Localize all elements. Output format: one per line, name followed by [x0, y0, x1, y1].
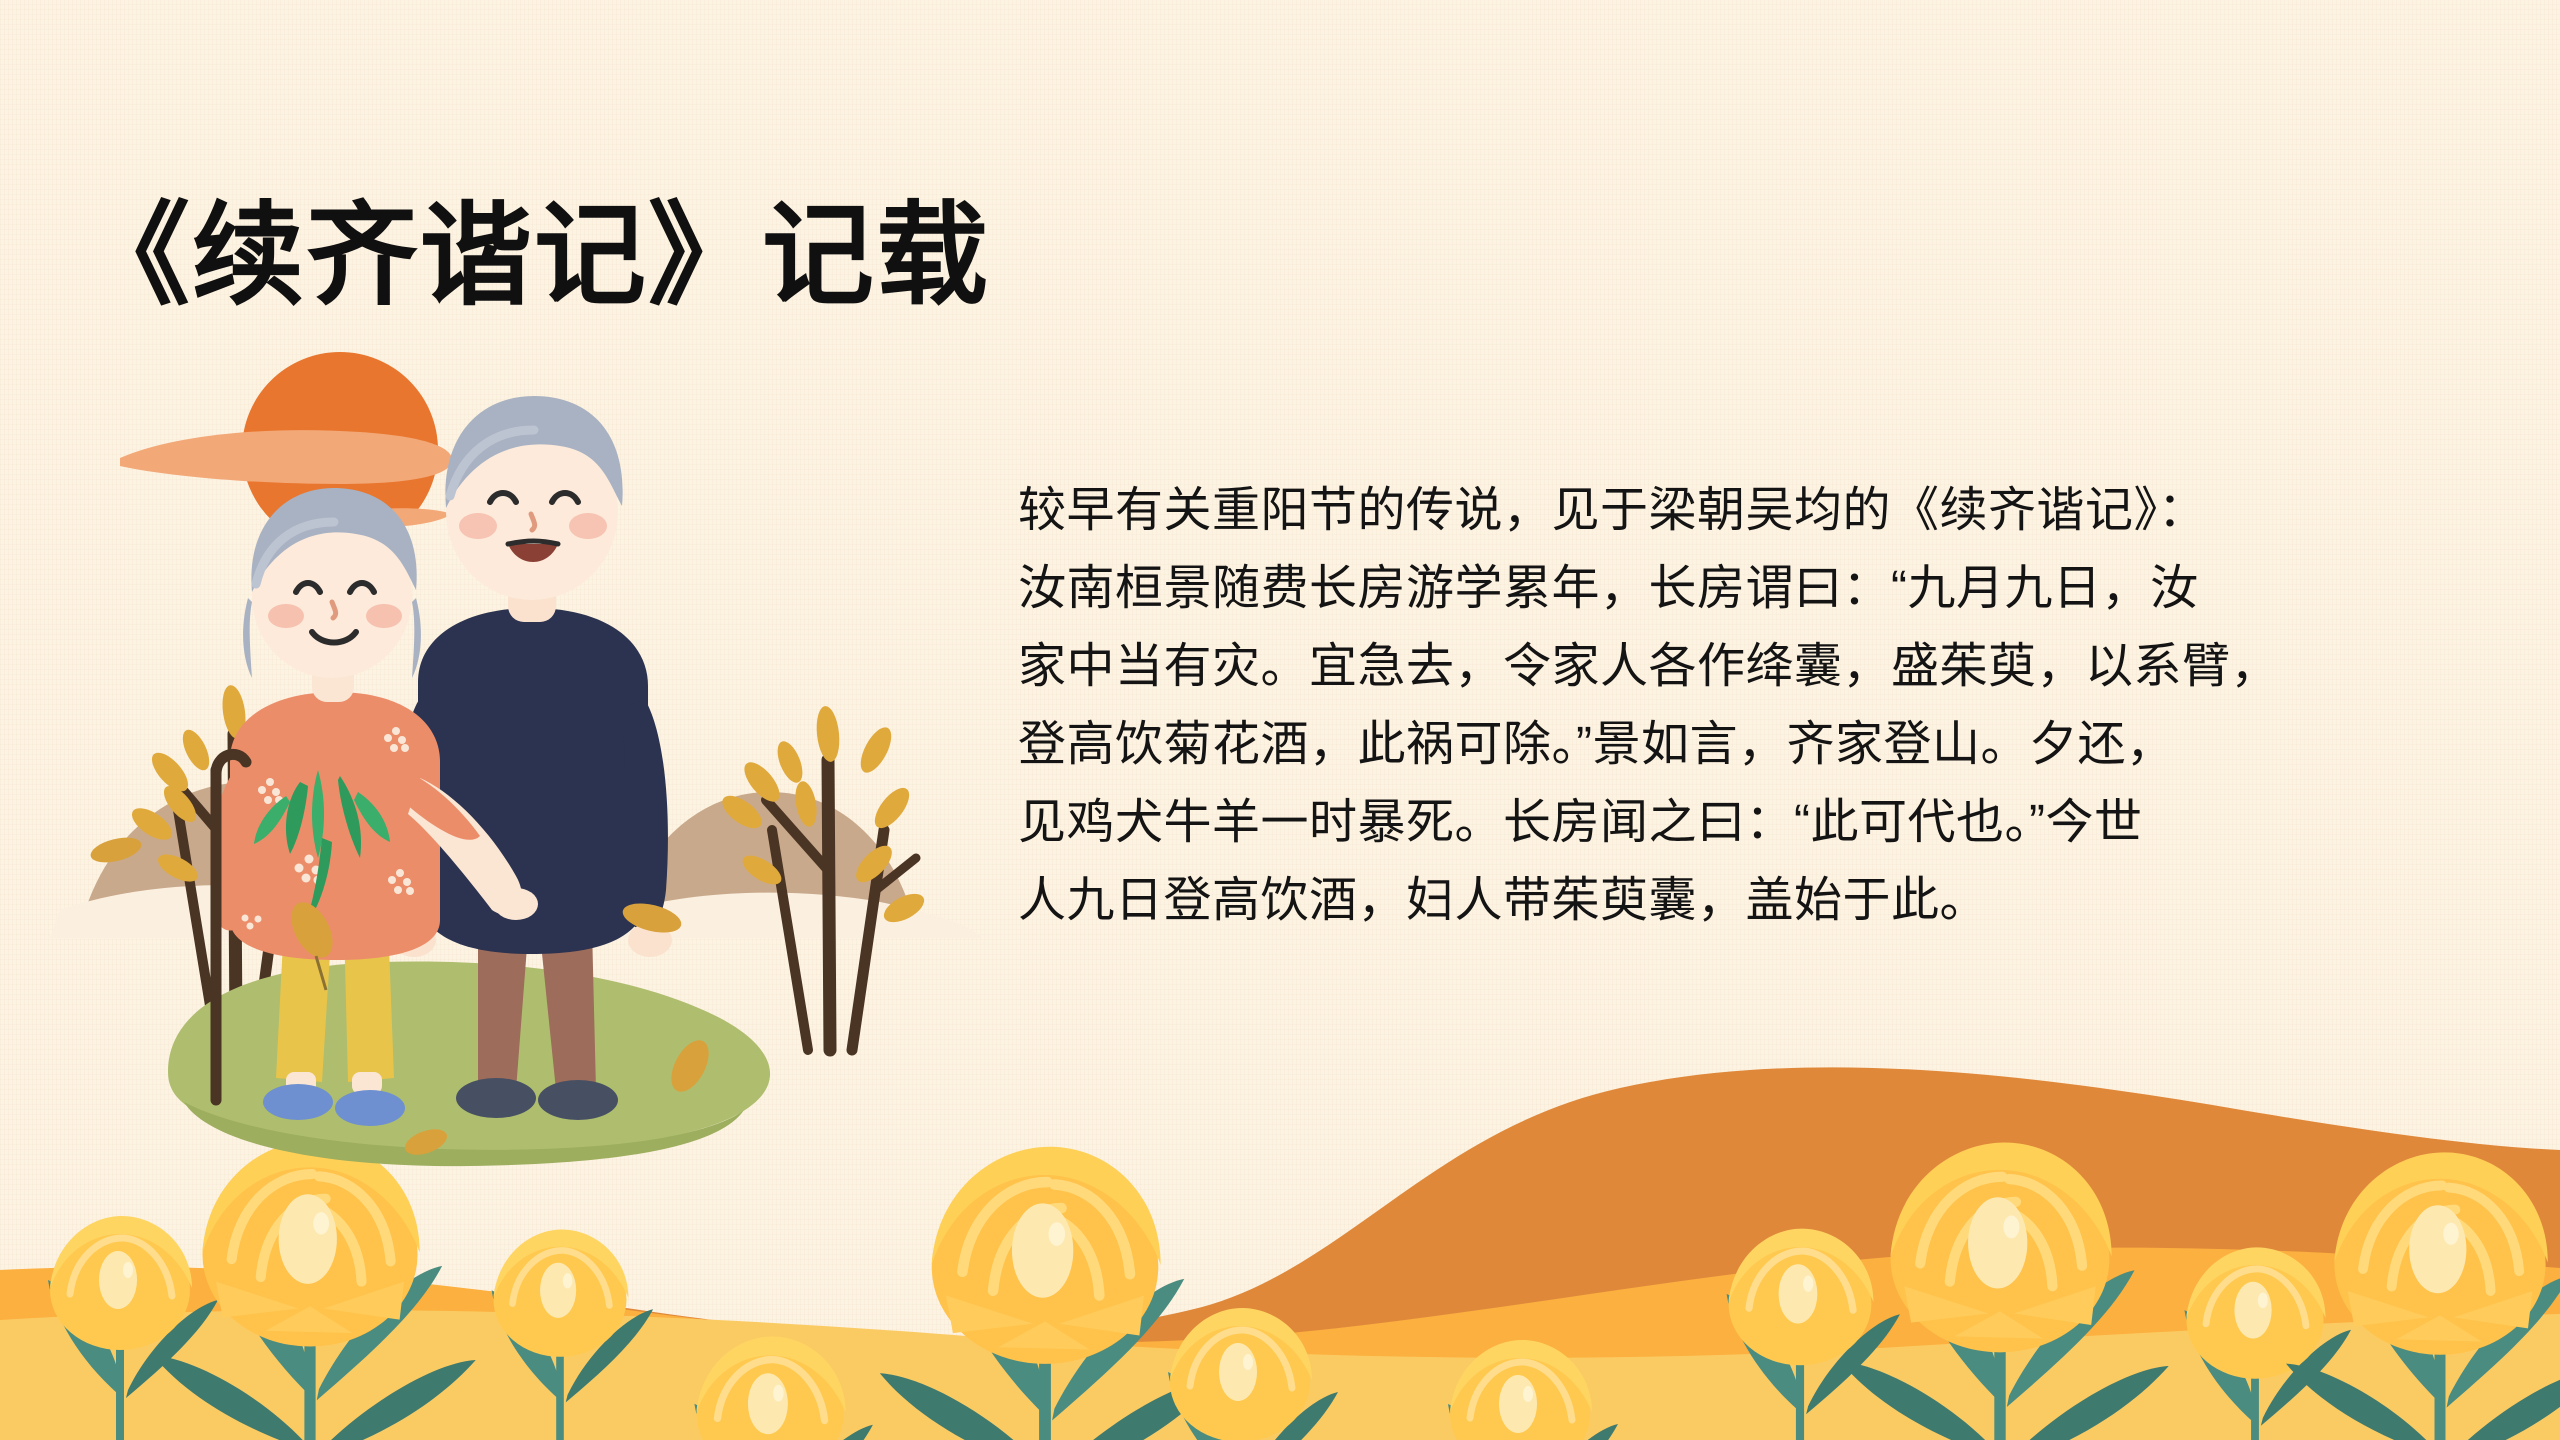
elderly-couple-illustration [0, 330, 1040, 1170]
body-paragraph: 较早有关重阳节的传说，见于梁朝吴均的《续齐谐记》： 汝南桓景随费长房游学累年，长… [1018, 472, 2448, 940]
cloud-icon [120, 430, 452, 484]
body-line: 人九日登高饮酒，妇人带茱萸囊，盖始于此。 [1018, 862, 2448, 940]
body-line: 汝南桓景随费长房游学累年，长房谓曰：“九月九日，汝 [1018, 550, 2448, 628]
body-line: 家中当有灾。宜急去，令家人各作绛囊，盛茱萸，以系臂， [1018, 628, 2448, 706]
body-line: 见鸡犬牛羊一时暴死。长房闻之曰：“此可代也。”今世 [1018, 784, 2448, 862]
page-title: 《续齐谐记》记载 [78, 193, 990, 318]
body-line: 登高饮菊花酒，此祸可除。”景如言，齐家登山。夕还， [1018, 706, 2448, 784]
woman-shoe-left [263, 1084, 333, 1120]
woman-shoe-right [335, 1090, 405, 1126]
body-line: 较早有关重阳节的传说，见于梁朝吴均的《续齐谐记》： [1018, 472, 2448, 550]
slide-canvas: 《续齐谐记》记载 较早有关重阳节的传说，见于梁朝吴均的《续齐谐记》： 汝南桓景随… [0, 0, 2560, 1440]
